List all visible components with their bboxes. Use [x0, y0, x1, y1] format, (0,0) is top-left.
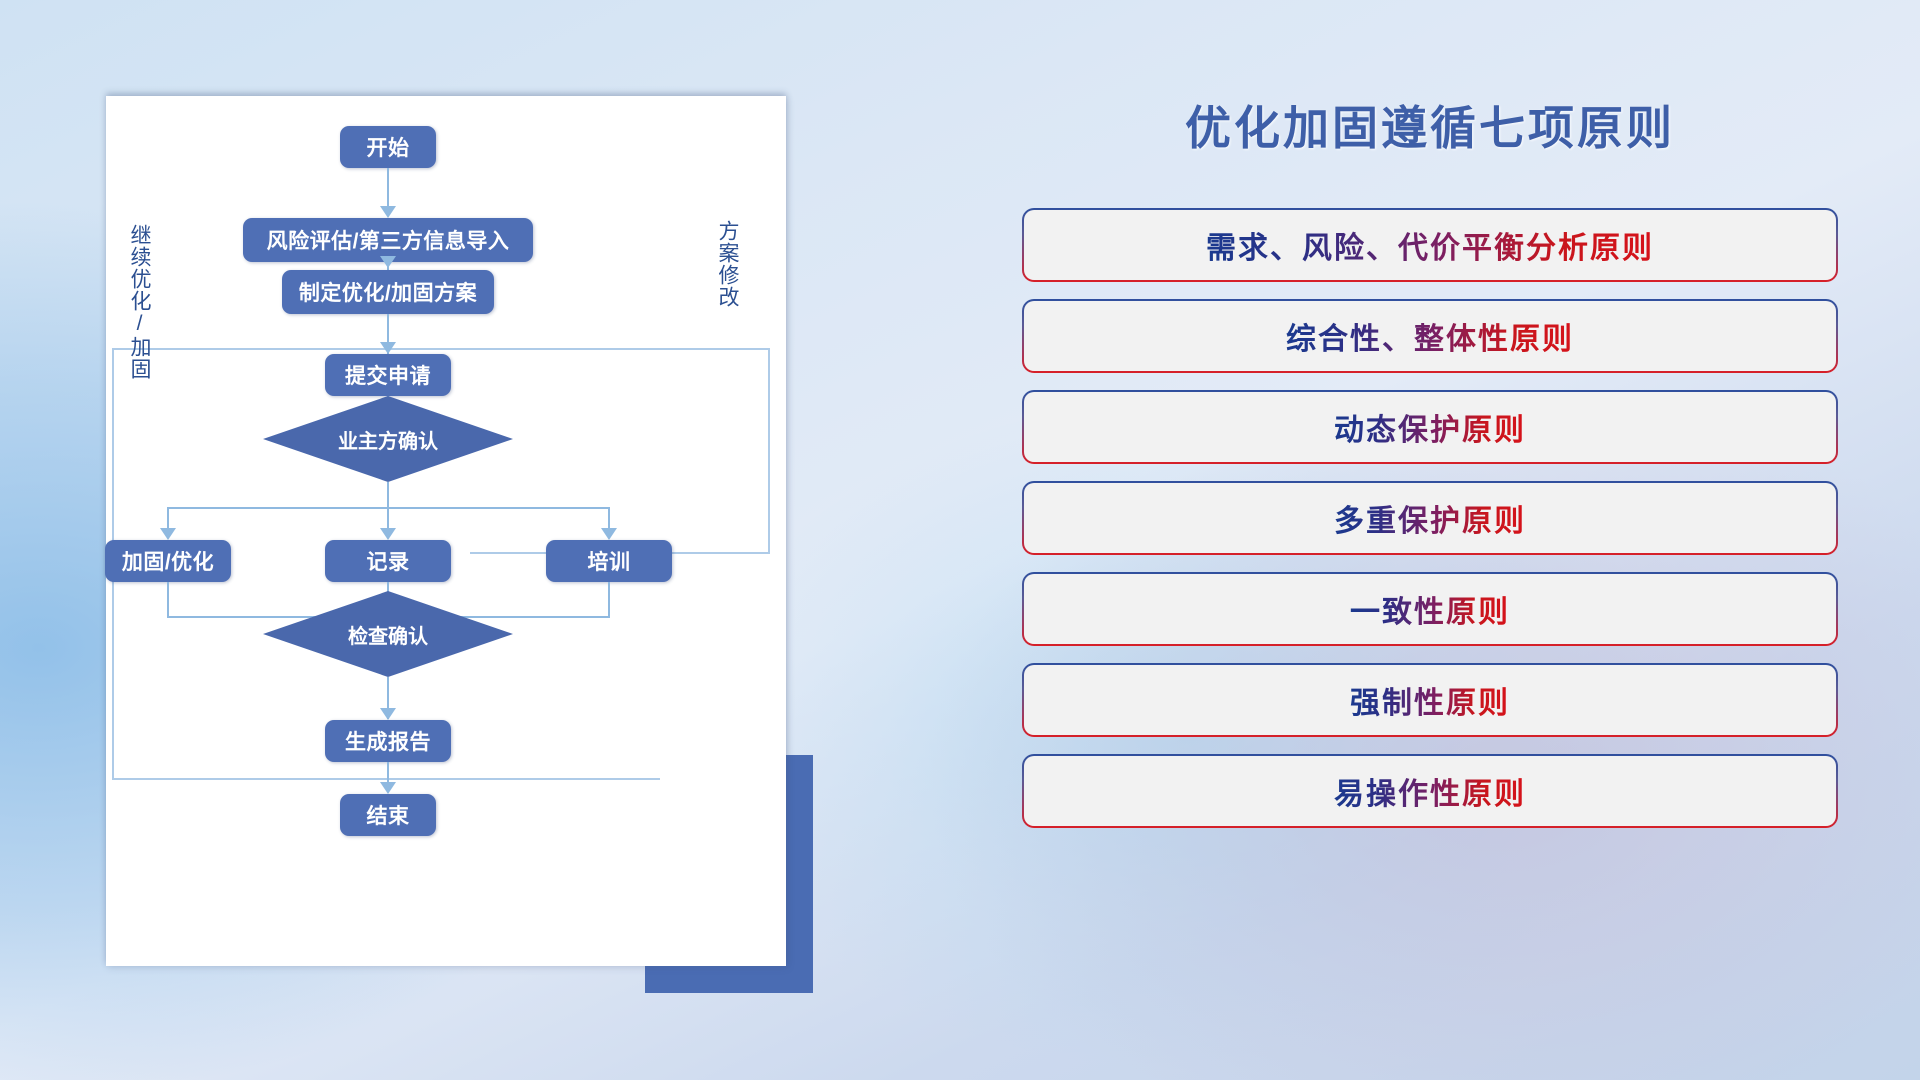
principle-card[interactable]: 一致性原则 [1022, 572, 1838, 646]
slide-root: 开始 风险评估/第三方信息导入 制定优化/加固方案 提交申请 业主方确认 继续优… [0, 0, 1920, 1080]
principle-card[interactable]: 强制性原则 [1022, 663, 1838, 737]
node-start-label: 开始 [367, 132, 410, 162]
node-submit[interactable]: 提交申请 [325, 354, 451, 396]
node-end-label: 结束 [367, 800, 410, 830]
node-training-label: 培训 [588, 546, 631, 576]
decision-owner-confirm[interactable]: 业主方确认 [263, 396, 513, 482]
arrowhead-branch-mid [380, 528, 396, 540]
principles-panel: 优化加固遵循七项原则 需求、风险、代价平衡分析原则 综合性、整体性原则 动态保护… [1022, 92, 1838, 1012]
arrowhead-report-to-end [380, 782, 396, 794]
principle-card[interactable]: 需求、风险、代价平衡分析原则 [1022, 208, 1838, 282]
decision-owner-confirm-label: 业主方确认 [338, 425, 438, 454]
arrowhead-check-to-report [380, 708, 396, 720]
node-training[interactable]: 培训 [546, 540, 672, 582]
principle-label: 易操作性原则 [1334, 769, 1526, 813]
arrowhead-start-to-risk [380, 206, 396, 218]
panel-title: 优化加固遵循七项原则 [1022, 92, 1838, 158]
principle-label: 多重保护原则 [1334, 496, 1526, 540]
arrowhead-branch-left [160, 528, 176, 540]
node-plan-label: 制定优化/加固方案 [299, 277, 477, 307]
principle-label: 动态保护原则 [1334, 405, 1526, 449]
connector-training-down [608, 582, 610, 618]
edge-label-plan-revise-text: 方案修改 [716, 220, 739, 308]
principle-card[interactable]: 综合性、整体性原则 [1022, 299, 1838, 373]
connector-owner-down [387, 482, 389, 508]
principle-label: 一致性原则 [1350, 587, 1510, 631]
node-risk-assessment-label: 风险评估/第三方信息导入 [267, 225, 510, 255]
connector-start-to-risk [387, 168, 389, 210]
arrowhead-risk-to-plan [380, 256, 396, 268]
edge-label-continue-optimize-text: 继续优化/加固 [128, 224, 151, 380]
decision-check-confirm[interactable]: 检查确认 [263, 591, 513, 677]
principle-card[interactable]: 易操作性原则 [1022, 754, 1838, 828]
node-reinforce[interactable]: 加固/优化 [105, 540, 231, 582]
principle-label: 综合性、整体性原则 [1286, 314, 1574, 358]
loop-back-frame-right [470, 348, 770, 554]
principles-list: 需求、风险、代价平衡分析原则 综合性、整体性原则 动态保护原则 多重保护原则 [1022, 208, 1838, 845]
flowchart-card: 开始 风险评估/第三方信息导入 制定优化/加固方案 提交申请 业主方确认 继续优… [106, 96, 786, 966]
node-record[interactable]: 记录 [325, 540, 451, 582]
node-submit-label: 提交申请 [345, 360, 431, 390]
edge-label-continue-optimize: 继续优化/加固 [128, 224, 150, 380]
node-start[interactable]: 开始 [340, 126, 436, 168]
arrowhead-branch-right [601, 528, 617, 540]
connector-reinforce-down [167, 582, 169, 618]
node-plan[interactable]: 制定优化/加固方案 [282, 270, 494, 314]
principle-label: 需求、风险、代价平衡分析原则 [1206, 223, 1654, 267]
node-report[interactable]: 生成报告 [325, 720, 451, 762]
principle-card[interactable]: 动态保护原则 [1022, 390, 1838, 464]
node-end[interactable]: 结束 [340, 794, 436, 836]
edge-label-plan-revise: 方案修改 [716, 220, 738, 308]
principle-card[interactable]: 多重保护原则 [1022, 481, 1838, 555]
arrowhead-plan-to-submit [380, 342, 396, 354]
node-record-label: 记录 [367, 546, 410, 576]
node-report-label: 生成报告 [345, 726, 431, 756]
node-reinforce-label: 加固/优化 [122, 546, 214, 576]
principle-label: 强制性原则 [1350, 678, 1510, 722]
decision-check-confirm-label: 检查确认 [348, 620, 428, 649]
